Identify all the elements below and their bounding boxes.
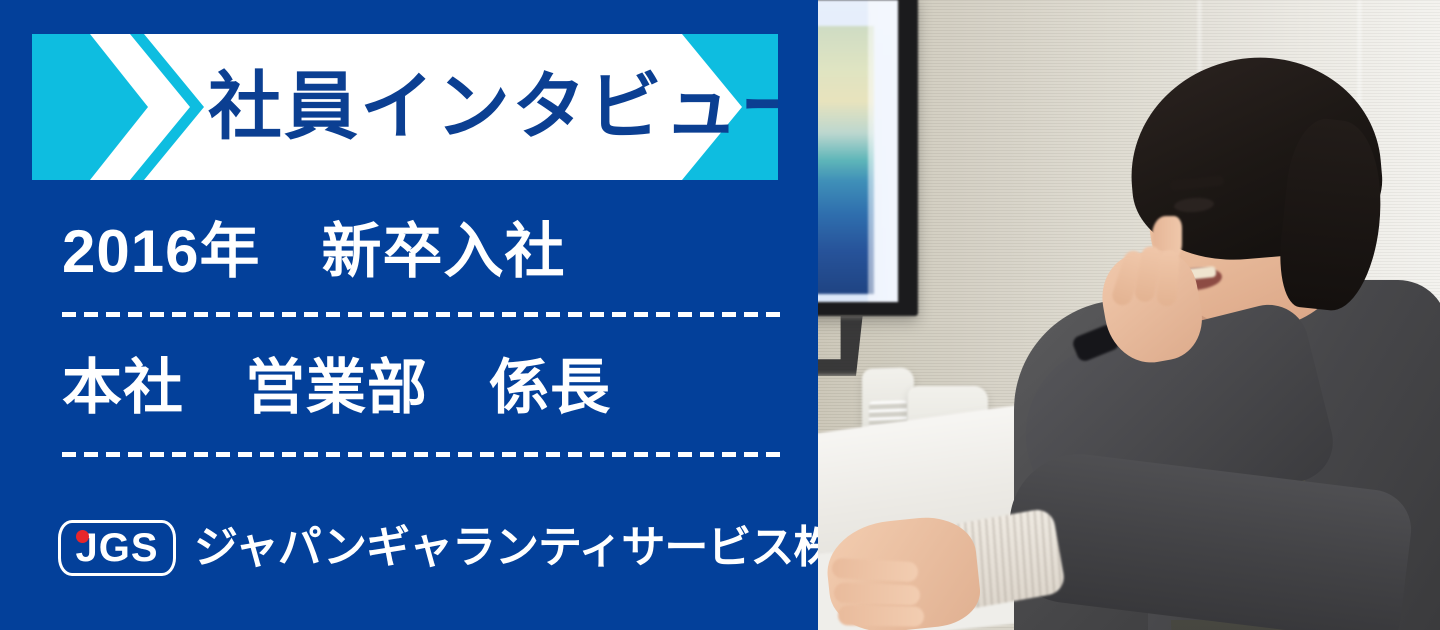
- title-ribbon: 社員インタビュー: [32, 34, 778, 180]
- info-line-department-title: 本社 営業部 係長: [62, 358, 611, 418]
- divider-2: [62, 452, 780, 457]
- finger-3: [1156, 249, 1180, 306]
- interviewee-in-grey-suit: [818, 0, 1440, 630]
- left-info-panel: 社員インタビュー 2016年 新卒入社 本社 営業部 係長 JGS ジャパンギャ…: [0, 0, 818, 630]
- employee-interview-banner: 社員インタビュー 2016年 新卒入社 本社 営業部 係長 JGS ジャパンギャ…: [0, 0, 1440, 630]
- interview-photo: [818, 0, 1440, 630]
- divider-1: [62, 312, 780, 317]
- resting-finger-2: [834, 583, 921, 606]
- chevron-right-icon: [32, 34, 148, 180]
- ribbon-title: 社員インタビュー: [208, 34, 778, 180]
- info-line-join-year: 2016年 新卒入社: [62, 222, 565, 282]
- red-dot-icon: [76, 530, 89, 543]
- jgs-logo-mark: JGS: [58, 520, 176, 576]
- resting-finger-3: [838, 605, 924, 626]
